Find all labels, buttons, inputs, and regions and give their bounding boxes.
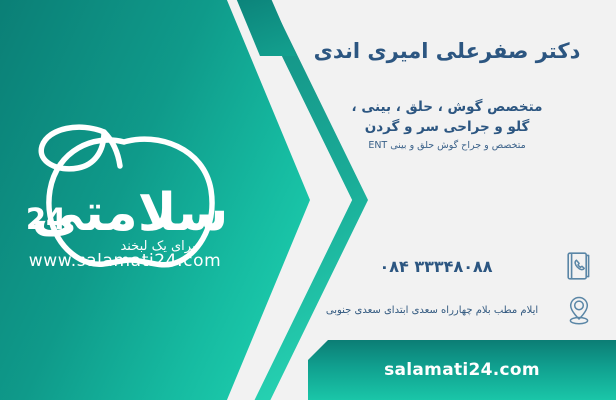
specialty-line-3: متخصص و جراح گوش حلق و بینی ENT <box>302 138 592 154</box>
phone-book-icon <box>562 246 596 286</box>
map-pin-icon <box>562 290 596 330</box>
doctor-name: دکتر صفرعلی امیری اندی <box>302 37 592 65</box>
svg-text:24: 24 <box>26 202 66 236</box>
footer-corner-cut <box>308 340 328 360</box>
doctor-specialty: متخصص گوش ، حلق ، بینی ، گلو و جراحی سر … <box>302 97 592 154</box>
phone-row: ۳۳۳۴۸۰۸۸ ۰۸۴ <box>296 246 596 286</box>
footer-bar: salamati24.com <box>308 340 616 400</box>
logo-website-url: www.salamati24.com <box>12 251 238 271</box>
phone-number[interactable]: ۳۳۳۴۸۰۸۸ ۰۸۴ <box>296 257 562 276</box>
specialty-line-1: متخصص گوش ، حلق ، بینی ، <box>302 97 592 117</box>
business-card: سلامتی 24 برای یک لبخند www.salamati24.c… <box>0 0 616 400</box>
address-row: ایلام مطب بلام چهارراه سعدی ابتدای سعدی … <box>296 290 596 330</box>
specialty-line-2: گلو و جراحی سر و گردن <box>302 117 592 137</box>
footer-website[interactable]: salamati24.com <box>384 360 540 380</box>
address-text: ایلام مطب بلام چهارراه سعدی ابتدای سعدی … <box>296 303 562 318</box>
